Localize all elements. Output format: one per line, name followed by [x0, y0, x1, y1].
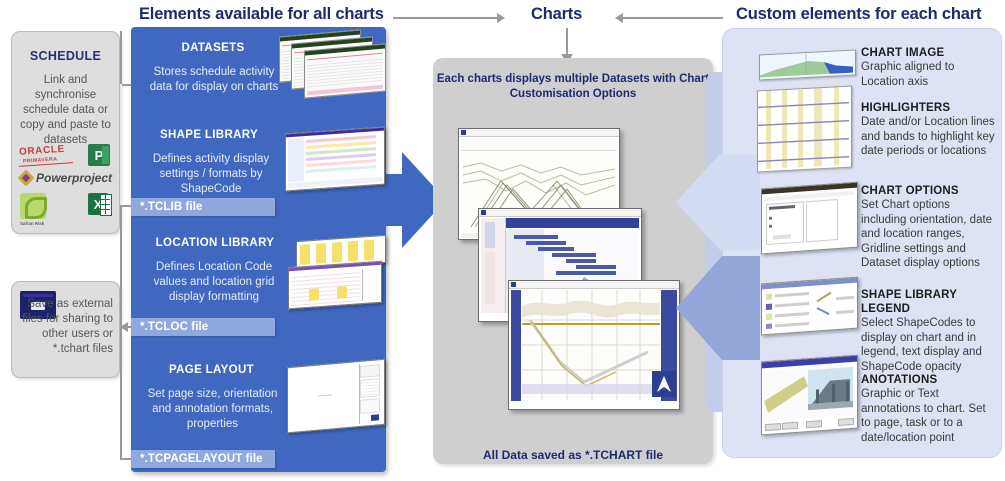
schedule-logos: ORACLE PRIMAVERA P Powerproject Safran R…	[18, 145, 114, 227]
chart-image-thumbnail	[759, 49, 856, 80]
oracle-primavera-logo: ORACLE PRIMAVERA	[19, 145, 73, 165]
custom-item-text-anotations: Graphic or Text annotations to chart. Se…	[861, 387, 997, 445]
safran-risk-logo: Safran Risk	[20, 193, 46, 226]
section-title-page-layout: PAGE LAYOUT	[139, 364, 284, 376]
header-left: Elements available for all charts	[139, 5, 384, 24]
chart-window-thumbnail-front	[508, 280, 680, 410]
custom-item-title-shape-library-legend: SHAPE LIBRARY LEGEND	[861, 288, 979, 316]
file-badge-tclib: *.TCLIB file	[131, 198, 275, 216]
header-arrow-left-head	[497, 13, 505, 23]
custom-panel-arrow-upper	[676, 150, 760, 254]
custom-item-text-chart-options: Set Chart options including orientation,…	[861, 198, 997, 271]
schedule-connector-vert	[120, 31, 122, 84]
location-library-thumbnail	[288, 238, 393, 308]
anotations-thumbnail	[761, 355, 858, 436]
powerproject-label: Powerproject	[36, 171, 112, 185]
charts-box-footer: All Data saved as *.TCHART file	[433, 448, 713, 462]
diagram-canvas: Elements available for all charts Charts…	[0, 0, 1005, 481]
microsoft-project-accent	[102, 146, 109, 164]
excel-grid	[100, 194, 112, 216]
highlighters-thumbnail	[757, 86, 852, 173]
chart-options-thumbnail	[761, 182, 858, 255]
schedule-box: SCHEDULE Link and synchronise schedule d…	[11, 31, 120, 234]
custom-item-title-chart-image: CHART IMAGE	[861, 46, 991, 60]
custom-item-title-chart-options: CHART OPTIONS	[861, 184, 991, 198]
section-text-shape-library: Defines activity display settings / form…	[139, 152, 283, 197]
file-badge-tcloc: *.TCLOC file	[131, 318, 275, 336]
page-layout-thumbnail	[287, 363, 387, 433]
schedule-box-text: Link and synchronise schedule data or co…	[12, 73, 119, 148]
header-center: Charts	[531, 5, 582, 24]
section-text-location-library: Defines Location Code values and locatio…	[146, 260, 282, 305]
charts-down-arrow-line	[566, 28, 568, 56]
header-right: Custom elements for each chart	[736, 5, 981, 24]
section-text-page-layout: Set page size, orientation and annotatio…	[141, 387, 284, 432]
custom-item-title-highlighters: HIGHLIGHTERS	[861, 101, 991, 115]
section-text-datasets: Stores schedule activity data for displa…	[146, 65, 282, 95]
section-title-datasets: DATASETS	[143, 42, 283, 54]
save-box-text: Save as external files for sharing to ot…	[12, 297, 119, 357]
schedule-box-title: SCHEDULE	[12, 49, 119, 63]
custom-item-text-highlighters: Date and/or Location lines and bands to …	[861, 115, 995, 159]
custom-panel-arrow-lower	[676, 248, 760, 368]
custom-item-text-chart-image: Graphic aligned to Location axis	[861, 60, 993, 89]
header-arrow-left-line	[393, 17, 497, 19]
header-arrow-right-head	[615, 13, 623, 23]
charts-box-lead: Each charts displays multiple Datasets w…	[433, 72, 713, 101]
section-title-shape-library: SHAPE LIBRARY	[139, 129, 279, 141]
datasets-thumbnail	[279, 33, 387, 101]
custom-item-text-shape-library-legend: Select ShapeCodes to display on chart an…	[861, 316, 997, 374]
header-arrow-right-line	[623, 17, 723, 19]
save-box: Save as external files for sharing to ot…	[11, 281, 120, 378]
file-return-spine	[120, 206, 122, 459]
shape-library-legend-thumbnail	[761, 277, 858, 336]
chart-logo-badge	[652, 371, 676, 397]
section-title-location-library: LOCATION LIBRARY	[139, 237, 291, 249]
file-badge-tcpagelayout: *.TCPAGELAYOUT file	[131, 450, 275, 468]
shape-library-thumbnail	[285, 130, 385, 190]
custom-item-title-anotations: ANOTATIONS	[861, 373, 991, 387]
